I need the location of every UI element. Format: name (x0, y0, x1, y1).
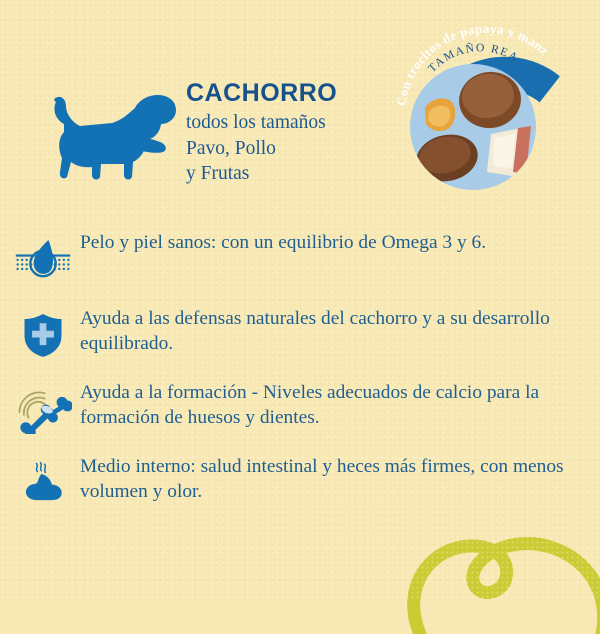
list-item: Ayuda a la formación - Niveles adecuados… (0, 378, 600, 440)
list-item: Ayuda a las defensas naturales del cacho… (0, 304, 600, 366)
bones-joint-icon (0, 378, 80, 440)
shield-plus-defenses-icon (0, 304, 80, 366)
header-text-block: CACHORRO todos los tamaños Pavo, Pollo y… (186, 80, 396, 186)
benefit-text: Ayuda a la formación - Niveles adecuados… (80, 378, 600, 430)
header-subtitle-line-2: Pavo, Pollo (186, 136, 396, 161)
benefit-text: Medio interno: salud intestinal y heces … (80, 452, 600, 504)
puppy-silhouette-icon (38, 80, 178, 185)
list-item: Medio interno: salud intestinal y heces … (0, 452, 600, 514)
papaya-apple-badge: TAMAÑO REAL Con trocitos de papaya y man… (395, 22, 575, 202)
header-subtitle-line-1: todos los tamaños (186, 110, 396, 135)
header-subtitle-line-3: y Frutas (186, 161, 396, 186)
list-item: Pelo y piel sanos: con un equilibrio de … (0, 228, 600, 290)
benefits-list: Pelo y piel sanos: con un equilibrio de … (0, 228, 600, 527)
stool-steam-icon (0, 452, 80, 514)
hair-skin-droplet-icon (0, 228, 80, 290)
benefit-text: Ayuda a las defensas naturales del cacho… (80, 304, 600, 356)
benefit-text: Pelo y piel sanos: con un equilibrio de … (80, 228, 600, 255)
page-title: CACHORRO (186, 80, 396, 106)
